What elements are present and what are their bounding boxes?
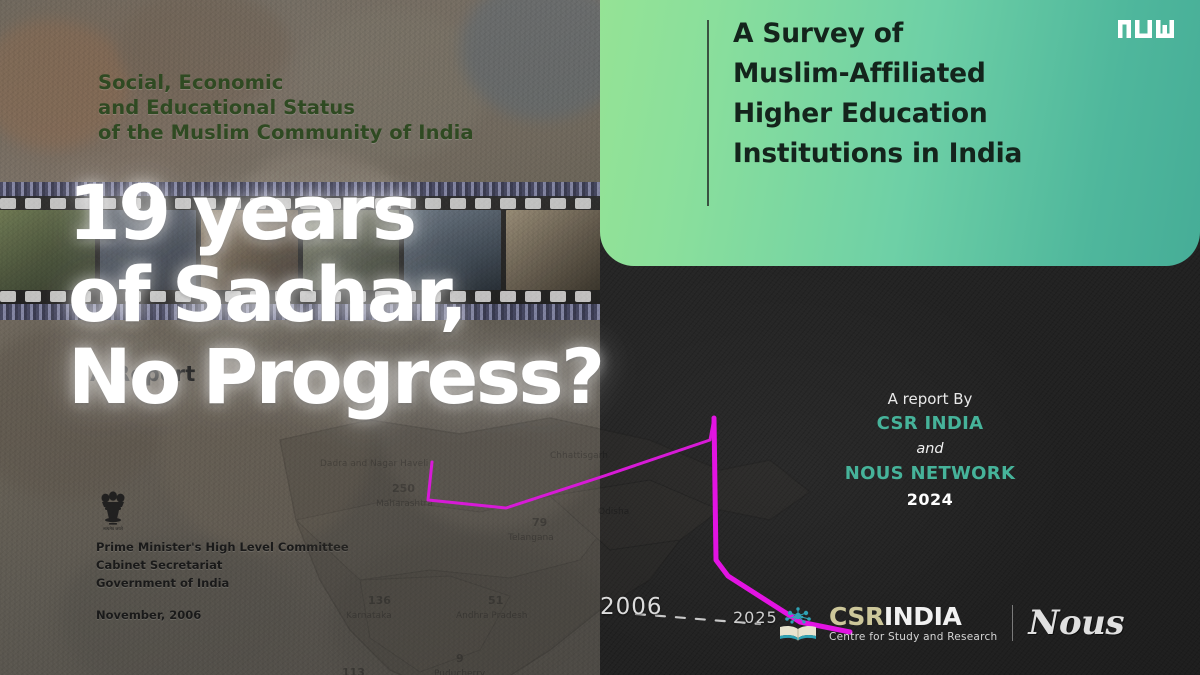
- sachar-report-cover-image: Social, Economic and Educational Status …: [0, 0, 600, 675]
- csr-india-book-emblem-icon: [778, 605, 818, 641]
- survey-title-line-1: A Survey of: [733, 14, 1133, 54]
- survey-title: A Survey of Muslim-Affiliated Higher Edu…: [733, 14, 1133, 174]
- report-date: November, 2006: [96, 608, 201, 622]
- credits-org-nous: NOUS NETWORK: [820, 461, 1040, 487]
- survey-title-card: A Survey of Muslim-Affiliated Higher Edu…: [600, 0, 1200, 266]
- csr-tagline: Centre for Study and Research: [829, 632, 997, 643]
- credits-conjunction: and: [820, 437, 1040, 461]
- report-subtitle-line-3: of the Muslim Community of India: [98, 120, 518, 145]
- timeline-start-year: 2006: [600, 594, 663, 620]
- issuer-line-3: Government of India: [96, 574, 349, 592]
- csr-india-wordmark: CSRINDIA Centre for Study and Research: [829, 604, 997, 643]
- title-vertical-rule: [707, 20, 709, 206]
- india-state-emblem-icon: सत्यमेव जयते: [96, 487, 130, 533]
- csr-primary-text: CSR: [829, 602, 884, 631]
- report-subtitle-line-1: Social, Economic: [98, 70, 518, 95]
- a-report-label: A Report: [90, 362, 195, 386]
- credits-by-label: A report By: [820, 387, 1040, 411]
- report-subtitle-line-2: and Educational Status: [98, 95, 518, 120]
- csr-secondary-text: INDIA: [884, 602, 962, 631]
- survey-title-line-2: Muslim-Affiliated: [733, 54, 1133, 94]
- timeline-end-year: 2025: [733, 608, 778, 627]
- credits-org-csr: CSR INDIA: [820, 411, 1040, 437]
- report-issuer: Prime Minister's High Level Committee Ca…: [96, 538, 349, 592]
- partner-logo-bar: CSRINDIA Centre for Study and Research N…: [778, 600, 1124, 646]
- report-credits: A report By CSR INDIA and NOUS NETWORK 2…: [820, 387, 1040, 513]
- issuer-line-2: Cabinet Secretariat: [96, 556, 349, 574]
- survey-title-line-3: Higher Education: [733, 94, 1133, 134]
- report-subtitle: Social, Economic and Educational Status …: [98, 70, 518, 145]
- svg-text:सत्यमेव जयते: सत्यमेव जयते: [103, 526, 123, 531]
- issuer-line-1: Prime Minister's High Level Committee: [96, 538, 349, 556]
- nous-script-wordmark: Nous: [1028, 603, 1124, 643]
- vertical-divider-icon: [1012, 605, 1013, 641]
- survey-title-line-4: Institutions in India: [733, 134, 1133, 174]
- credits-year: 2024: [820, 487, 1040, 513]
- poster-canvas: Social, Economic and Educational Status …: [0, 0, 1200, 675]
- nous-wordmark-icon: [1116, 14, 1178, 44]
